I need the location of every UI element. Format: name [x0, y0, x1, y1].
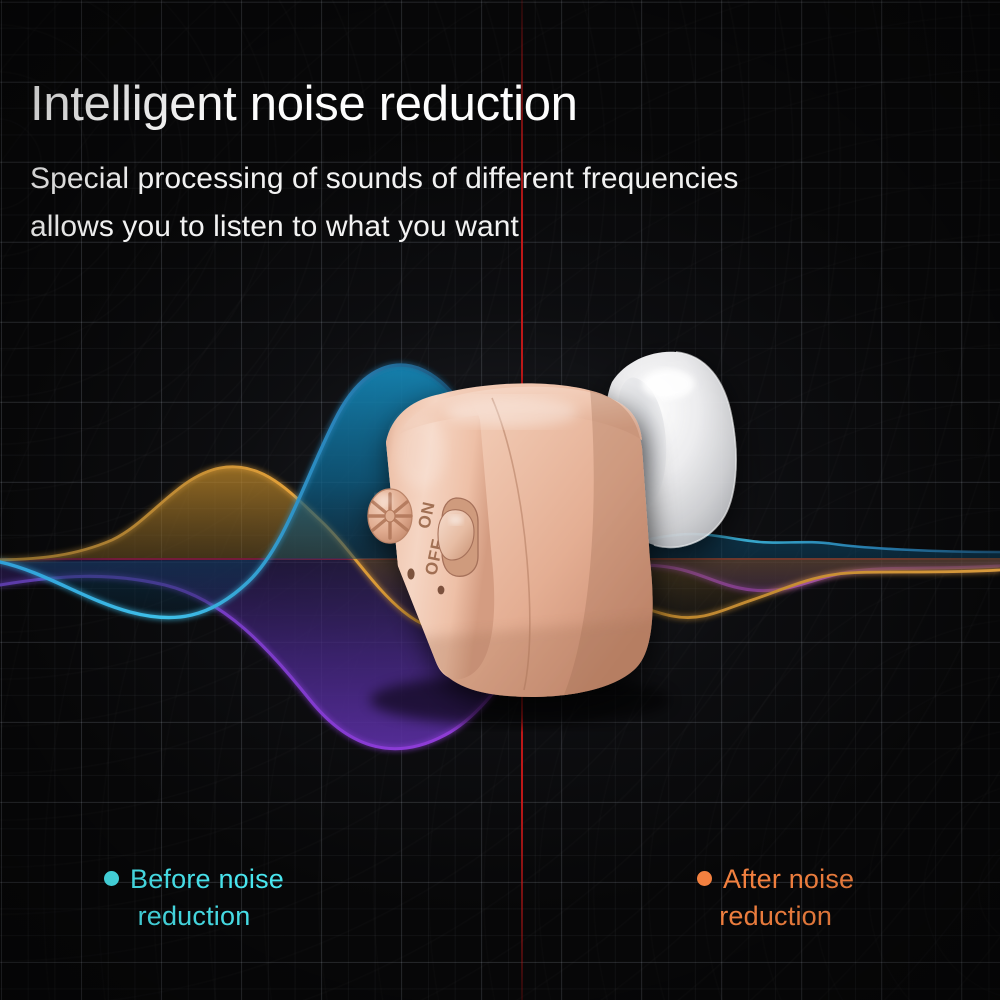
mic-port-1 — [407, 568, 414, 579]
ear-dome-highlight — [642, 369, 694, 399]
power-switch[interactable] — [438, 498, 478, 576]
device-body: ON OFF — [368, 383, 668, 720]
device-specular-left — [394, 416, 446, 488]
device-specular-top — [446, 397, 578, 427]
hearing-aid-device: ON OFF — [0, 0, 1000, 1000]
mic-port-2 — [438, 586, 445, 595]
product-banner: ON OFF Intelligent noise reduction Speci… — [0, 0, 1000, 1000]
volume-wheel-icon[interactable] — [368, 489, 412, 543]
